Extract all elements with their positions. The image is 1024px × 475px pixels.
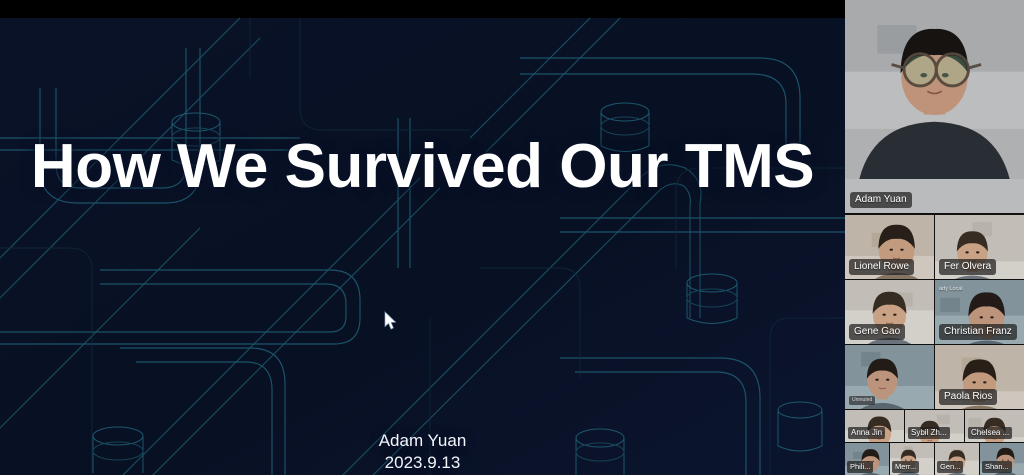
participant-tile-paola-rios[interactable]: Paola Rios [935, 345, 1024, 409]
participant-tile-adam-yuan[interactable]: Adam Yuan [845, 0, 1024, 213]
participant-name-label: Sybil Zh... [908, 427, 950, 439]
participant-name-label: Gene Gao [849, 324, 905, 340]
presenter-name: Adam Yuan [0, 430, 845, 452]
participant-tile-gen[interactable]: Gen... [935, 443, 979, 475]
participant-name-label: Anna Jin [848, 427, 885, 439]
participant-name-label: Merr... [892, 461, 919, 473]
tile-background-label: ady Local [939, 286, 963, 293]
participant-sidebar[interactable]: Adam YuanLionel RoweFer OlveraGene Gaoad… [845, 0, 1024, 475]
shared-screen-area[interactable]: How We Survived Our TMS Adam Yuan 2023.9… [0, 0, 845, 475]
participant-name-label: Adam Yuan [850, 192, 912, 208]
tile-status-label: Unmuted [849, 396, 875, 405]
slide-title: How We Survived Our TMS [0, 136, 845, 198]
participant-tile-shan[interactable]: Shan... [980, 443, 1024, 475]
participant-tile-5[interactable]: Unmuted [845, 345, 934, 409]
screen-top-bar [0, 0, 845, 18]
participant-tile-lionel-rowe[interactable]: Lionel Rowe [845, 215, 934, 279]
participant-name-label: Chelsea ... [968, 427, 1012, 439]
participant-name-label: Fer Olvera [939, 259, 996, 275]
slide-footer: Adam Yuan 2023.9.13 [0, 430, 845, 475]
participant-tile-phili[interactable]: Phili... [845, 443, 889, 475]
video-call-screen: { "meeting": { "layout": "shared-screen-… [0, 0, 1024, 475]
participant-tile-sybil-zh[interactable]: Sybil Zh... [905, 410, 964, 442]
presentation-slide[interactable]: How We Survived Our TMS Adam Yuan 2023.9… [0, 18, 845, 475]
mouse-pointer-icon [384, 311, 398, 331]
participant-tile-merr[interactable]: Merr... [890, 443, 934, 475]
participant-tile-christian-franz[interactable]: ady LocalChristian Franz [935, 280, 1024, 344]
participant-name-label: Lionel Rowe [849, 259, 914, 275]
slide-background-pattern [0, 18, 845, 475]
participant-tile-anna-jin[interactable]: Anna Jin [845, 410, 904, 442]
participant-name-label: Gen... [937, 461, 963, 473]
participant-name-label: Paola Rios [939, 389, 997, 405]
participant-tile-chelsea[interactable]: Chelsea ... [965, 410, 1024, 442]
participant-name-label: Christian Franz [939, 324, 1017, 340]
participant-tile-gene-gao[interactable]: Gene Gao [845, 280, 934, 344]
presentation-date: 2023.9.13 [0, 452, 845, 474]
participant-name-label: Shan... [982, 461, 1012, 473]
participant-name-label: Phili... [847, 461, 873, 473]
participant-tile-fer-olvera[interactable]: Fer Olvera [935, 215, 1024, 279]
